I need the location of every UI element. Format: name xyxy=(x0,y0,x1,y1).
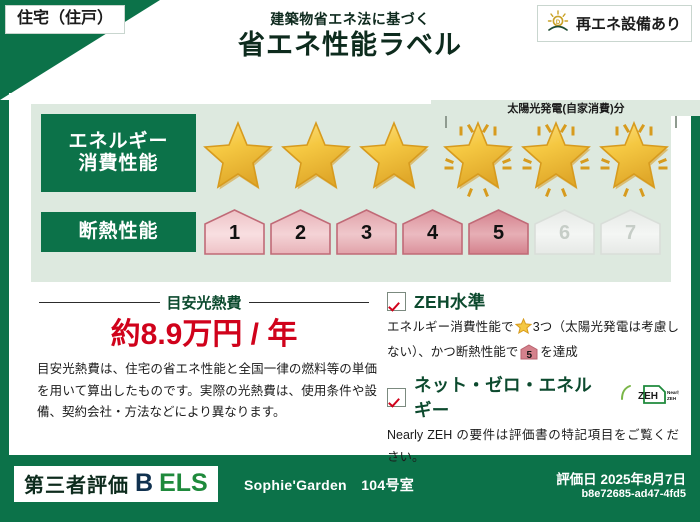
insulation-grade-scale: 1 2 3 xyxy=(203,208,663,256)
insulation-performance-label: 断熱性能 xyxy=(41,212,196,252)
star-6 xyxy=(597,120,671,194)
zeh-item-standard: ZEH水準 エネルギー消費性能で3つ（太陽光発電は考慮しない）、かつ断熱性能で5… xyxy=(387,289,679,363)
solar-sun-icon: D xyxy=(546,10,570,37)
insulation-grade-4: 4 xyxy=(401,208,464,256)
utility-cost-note: 目安光熱費は、住宅の省エネ性能と全国一律の燃料等の単価を用いて算出したものです。… xyxy=(37,359,377,424)
zeh-standard-description: エネルギー消費性能で3つ（太陽光発電は考慮しない）、かつ断熱性能で5を達成 xyxy=(387,317,679,363)
label-header: 住宅（住戸） D 再エネ設備あり xyxy=(0,0,700,100)
zeh-item-net-zero: ネット・ゼロ・エネルギー ZEH Nearly ZEH Nearly ZEH の… xyxy=(387,372,679,468)
energy-label-line1: エネルギー xyxy=(68,131,168,153)
renewable-badge-label: 再エネ設備あり xyxy=(576,13,681,34)
bels-logo-els: ELS xyxy=(159,469,208,498)
zeh-standard-title: ZEH水準 xyxy=(414,289,486,314)
svg-text:D: D xyxy=(556,20,561,26)
energy-label-line2: 消費性能 xyxy=(78,153,158,175)
evaluation-id: b8e72685-ad47-4fd5 xyxy=(581,488,686,500)
grade-4-number: 4 xyxy=(401,222,464,245)
zeh-desc-part1: エネルギー消費性能で xyxy=(387,320,514,334)
heading-rule-right xyxy=(249,302,370,303)
svg-text:Nearly: Nearly xyxy=(667,390,679,395)
star-4 xyxy=(441,120,515,194)
bels-japanese-text: 第三者評価 xyxy=(24,469,129,498)
grade-7-number: 7 xyxy=(599,222,662,245)
svg-text:ZEH: ZEH xyxy=(638,391,658,402)
insulation-label-text: 断熱性能 xyxy=(78,221,158,243)
insulation-grade-7: 7 xyxy=(599,208,662,256)
zeh-netzero-description: Nearly ZEH の要件は評価書の特記項目をご覧ください。 xyxy=(387,425,679,468)
grade-5-number: 5 xyxy=(467,222,530,245)
check-icon-zeh-standard xyxy=(387,292,406,311)
svg-text:ZEH: ZEH xyxy=(667,396,677,401)
zeh-criteria-list: ZEH水準 エネルギー消費性能で3つ（太陽光発電は考慮しない）、かつ断熱性能で5… xyxy=(387,289,679,477)
star-1 xyxy=(201,120,275,194)
star-2 xyxy=(279,120,353,194)
property-name: Sophie'Garden 104号室 xyxy=(244,475,414,495)
performance-panel: エネルギー 消費性能 断熱性能 太陽光発電(自家消費)分 xyxy=(31,104,671,282)
insulation-grade-2: 2 xyxy=(269,208,332,256)
inline-house-number: 5 xyxy=(520,347,538,364)
zeh-netzero-title-row: ネット・ゼロ・エネルギー ZEH Nearly ZEH xyxy=(387,372,679,422)
energy-label-root: 住宅（住戸） D 再エネ設備あり xyxy=(0,0,700,522)
energy-star-rating xyxy=(201,120,663,200)
insulation-grade-5: 5 xyxy=(467,208,530,256)
star-5 xyxy=(519,120,593,194)
zeh-house-logo-icon: ZEH Nearly ZEH xyxy=(619,383,679,412)
bels-certification-mark: 第三者評価 B ELS xyxy=(14,466,218,502)
insulation-grade-1: 1 xyxy=(203,208,266,256)
housing-type-label: 住宅（住戸） xyxy=(17,10,113,27)
zeh-netzero-title: ネット・ゼロ・エネルギー xyxy=(414,372,607,422)
housing-type-tag: 住宅（住戸） xyxy=(5,5,125,34)
energy-performance-label: エネルギー 消費性能 xyxy=(41,114,196,192)
heading-rule-left xyxy=(39,302,160,303)
utility-cost-value: 約8.9万円 / 年 xyxy=(39,309,369,353)
grade-3-number: 3 xyxy=(335,222,398,245)
star-3 xyxy=(357,120,431,194)
renewable-energy-badge: D 再エネ設備あり xyxy=(537,5,692,42)
zeh-standard-title-row: ZEH水準 xyxy=(387,289,679,314)
grade-1-number: 1 xyxy=(203,222,266,245)
inline-star-icon xyxy=(515,318,532,342)
insulation-grade-3: 3 xyxy=(335,208,398,256)
insulation-grade-6: 6 xyxy=(533,208,596,256)
check-icon-zeh-netzero xyxy=(387,388,406,407)
grade-6-number: 6 xyxy=(533,222,596,245)
bels-logo-b: B xyxy=(135,469,153,498)
label-body-card: エネルギー 消費性能 断熱性能 太陽光発電(自家消費)分 xyxy=(9,93,691,455)
zeh-desc-part2: を達成 xyxy=(540,345,578,359)
inline-house-icon: 5 xyxy=(520,344,538,360)
solar-caption: 太陽光発電(自家消費)分 xyxy=(431,100,700,116)
grade-2-number: 2 xyxy=(269,222,332,245)
